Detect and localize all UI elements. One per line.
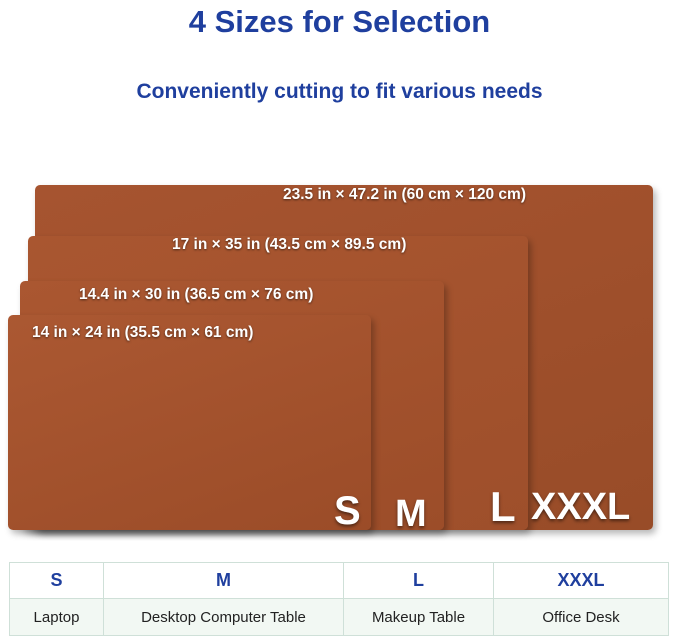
table-header-xxxl: XXXL xyxy=(494,563,668,599)
dimension-label-s: 14 in × 24 in (35.5 cm × 61 cm) xyxy=(32,324,253,342)
table-header-s: S xyxy=(10,563,104,599)
page-subtitle: Conveniently cutting to fit various need… xyxy=(0,80,679,104)
page-title: 4 Sizes for Selection xyxy=(0,4,679,40)
table-cell-m-usage: Desktop Computer Table xyxy=(104,599,344,635)
table-cell-s-usage: Laptop xyxy=(10,599,104,635)
table-cell-l-usage: Makeup Table xyxy=(344,599,494,635)
product-size-infographic: 4 Sizes for Selection Conveniently cutti… xyxy=(0,0,679,644)
mat-s xyxy=(8,315,371,530)
size-label-s: S xyxy=(334,491,361,531)
table-cell-xxxl-usage: Office Desk xyxy=(494,599,668,635)
dimension-label-xxxl: 23.5 in × 47.2 in (60 cm × 120 cm) xyxy=(283,186,526,204)
table-header-row: S M L XXXL xyxy=(10,563,668,599)
size-label-m: M xyxy=(395,495,427,533)
size-label-xxxl: XXXL xyxy=(531,488,630,526)
dimension-label-l: 17 in × 35 in (43.5 cm × 89.5 cm) xyxy=(172,236,406,254)
table-header-l: L xyxy=(344,563,494,599)
size-usage-table: S M L XXXL Laptop Desktop Computer Table… xyxy=(9,562,669,636)
table-row: Laptop Desktop Computer Table Makeup Tab… xyxy=(10,599,668,635)
dimension-label-m: 14.4 in × 30 in (36.5 cm × 76 cm) xyxy=(79,286,313,304)
table-header-m: M xyxy=(104,563,344,599)
size-label-l: L xyxy=(490,486,516,528)
mat-stack: 23.5 in × 47.2 in (60 cm × 120 cm) 17 in… xyxy=(0,150,679,550)
